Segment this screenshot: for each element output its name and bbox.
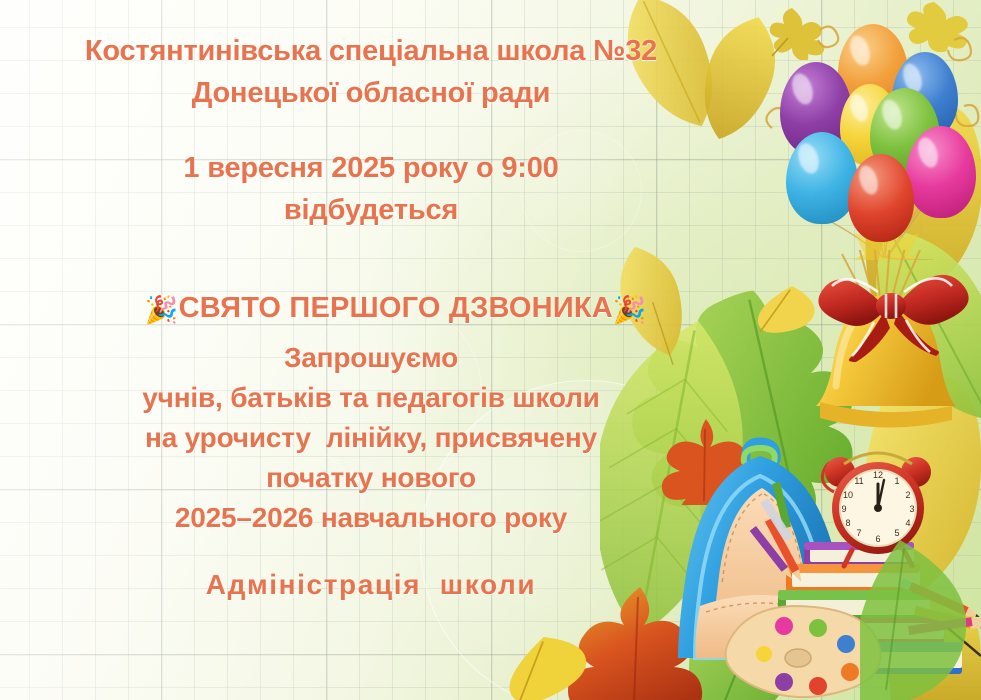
svg-text:2: 2 xyxy=(905,490,910,500)
balloon-highlight xyxy=(900,61,926,95)
svg-text:1: 1 xyxy=(894,476,899,486)
text-column: Костянтинівська спеціальна школа №32 Дон… xyxy=(0,0,742,700)
invitation-line-1: Запрошуємо xyxy=(0,343,742,373)
heading-line-2: Донецької обласної ради xyxy=(0,78,742,109)
when-line-1: 1 вересня 2025 року о 9:00 xyxy=(0,153,742,184)
svg-text:4: 4 xyxy=(905,518,910,528)
balloon-green xyxy=(870,88,940,178)
heading-line-1: Костянтинівська спеціальна школа №32 xyxy=(0,36,742,67)
balloon-highlight xyxy=(795,141,822,177)
balloon-yellow xyxy=(840,84,900,166)
balloon-highlight xyxy=(878,97,905,132)
school-bell xyxy=(800,250,981,440)
leaf-maple-small xyxy=(900,0,970,52)
invitation-poster: 1212 345 678 91011 xyxy=(0,0,981,700)
balloon-highlight xyxy=(788,71,816,107)
balloon-highlight xyxy=(914,135,941,170)
leaf-birch-small xyxy=(752,282,822,342)
invitation-line-5: 2025–2026 навчального року xyxy=(0,503,742,533)
event-title: СВЯТО ПЕРШОГО ДЗВОНИКА xyxy=(179,292,613,324)
party-popper-icon: 🎉 xyxy=(613,295,647,325)
svg-text:12: 12 xyxy=(873,470,883,480)
leaf-green-corner xyxy=(860,540,981,700)
paint-palette xyxy=(726,606,881,697)
balloon-highlight xyxy=(846,33,873,68)
balloon-orange xyxy=(838,24,908,114)
svg-text:6: 6 xyxy=(875,534,880,544)
invitation-line-3: на урочисту лінійку, присвячену xyxy=(0,423,742,453)
svg-text:11: 11 xyxy=(854,476,863,486)
invitation-line-4: початку нового xyxy=(0,463,742,493)
svg-text:7: 7 xyxy=(856,528,861,538)
balloon-bunch xyxy=(758,10,981,260)
party-popper-icon: 🎉 xyxy=(145,295,179,325)
book-stack xyxy=(778,542,962,674)
balloon-highlight xyxy=(856,163,882,197)
pencils xyxy=(750,482,981,635)
alarm-clock: 1212 345 678 91011 xyxy=(822,453,931,566)
balloon-blue xyxy=(892,52,958,140)
invitation-line-2: учнів, батьків та педагогів школи xyxy=(0,383,742,413)
signature: Адміністрація школи xyxy=(0,570,742,600)
svg-text:9: 9 xyxy=(841,504,846,514)
balloon-red xyxy=(848,154,914,242)
leaf-maple-small xyxy=(762,4,826,60)
svg-text:3: 3 xyxy=(909,504,914,514)
when-line-2: відбудеться xyxy=(0,195,742,226)
balloon-highlight xyxy=(847,92,870,123)
svg-text:8: 8 xyxy=(845,518,850,528)
svg-text:10: 10 xyxy=(843,490,853,500)
balloon-purple xyxy=(780,62,852,156)
balloon-magenta xyxy=(906,126,976,218)
svg-text:5: 5 xyxy=(894,528,899,538)
balloon-cyan xyxy=(786,132,858,224)
